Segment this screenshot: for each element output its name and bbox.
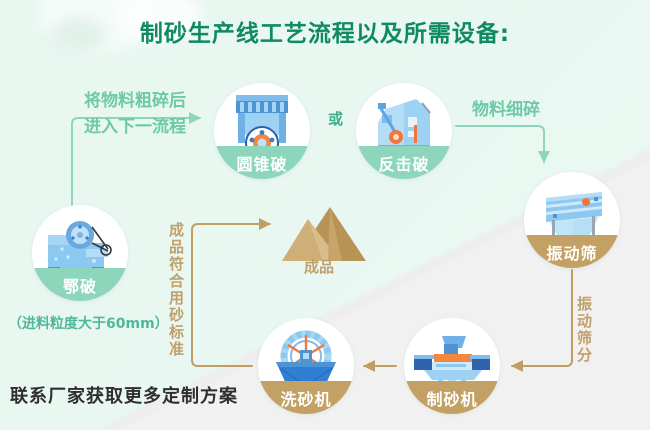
flowchart-canvas: 制砂生产线工艺流程以及所需设备: 成品 [0, 0, 650, 430]
or-connector-label: 或 [328, 108, 343, 129]
node-label: 鄂破 [32, 268, 128, 301]
contact-cta[interactable]: 联系厂家获取更多定制方案 [10, 382, 238, 408]
coarse-crush-line-1: 将物料粗碎后 [84, 88, 186, 114]
node-vibrating-screen[interactable]: 振动筛 [524, 172, 620, 268]
coarse-crush-annotation: 将物料粗碎后 进入下一流程 [84, 88, 186, 140]
node-label: 制砂机 [404, 381, 500, 414]
arrow-impact-to-screen [456, 126, 544, 162]
sand-standard-annotation: 成品符合用砂标准 [168, 222, 183, 358]
node-label: 振动筛 [524, 235, 620, 268]
coarse-crush-line-2: 进入下一流程 [84, 114, 186, 140]
product-label: 成品 [304, 256, 334, 277]
node-sand-washer[interactable]: 洗砂机 [258, 318, 354, 414]
screening-annotation: 振动筛分 [576, 296, 591, 364]
node-jaw-crusher[interactable]: 鄂破 [32, 205, 128, 301]
node-label: 反击破 [356, 146, 452, 179]
arrow-screen-to-sandmaker [512, 270, 572, 366]
node-label: 洗砂机 [258, 381, 354, 414]
node-cone-crusher[interactable]: 圆锥破 [214, 83, 310, 179]
node-impact-crusher[interactable]: 反击破 [356, 83, 452, 179]
node-sand-maker[interactable]: 制砂机 [404, 318, 500, 414]
fine-crush-annotation: 物料细碎 [472, 95, 540, 120]
node-label: 圆锥破 [214, 146, 310, 179]
feed-size-note: （进料粒度大于60mm） [8, 313, 169, 333]
